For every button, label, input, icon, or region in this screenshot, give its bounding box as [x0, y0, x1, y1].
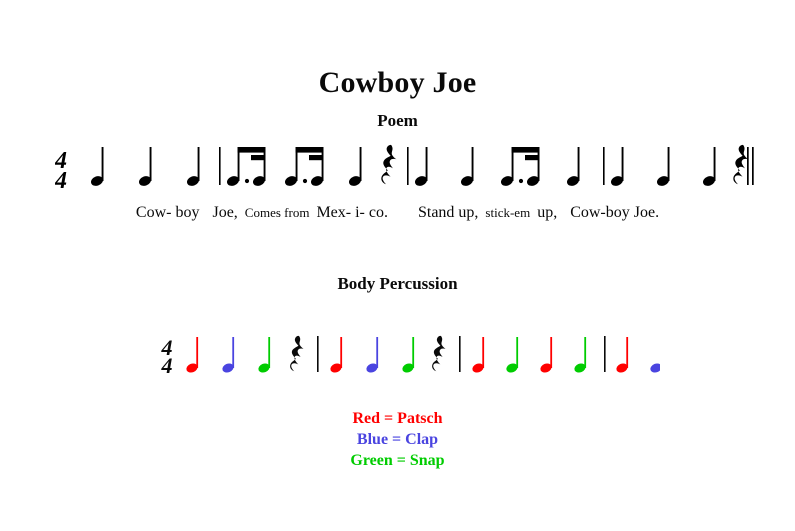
poem-measure-3 [414, 147, 581, 188]
lyric-segment: Comes from [245, 206, 310, 219]
note-patsch [329, 337, 343, 374]
time-signature-4-4: 4 4 [55, 148, 67, 194]
poem-lyrics-line: Cow- boyJoe,Comes fromMex- i- co.Stand u… [0, 205, 795, 221]
lyric-segment: Mex- i- co. [316, 205, 388, 221]
barline [317, 336, 319, 372]
legend-item-green: Green = Snap [0, 450, 795, 471]
lyric-segment: stick-em [485, 206, 530, 219]
poem-measure-4 [610, 145, 749, 188]
legend-item-red: Red = Patsch [0, 408, 795, 429]
note-patsch [471, 337, 485, 374]
body-percussion-notation-staff: 4 4 [160, 328, 660, 380]
sheet-music-page: Cowboy Joe Poem 4 4 [0, 0, 795, 531]
page-title: Cowboy Joe [0, 68, 795, 98]
note-patsch [185, 337, 199, 374]
page-subtitle: Poem [0, 112, 795, 129]
color-legend: Red = Patsch Blue = Clap Green = Snap [0, 408, 795, 471]
note-snap [257, 337, 271, 374]
svg-text:4: 4 [55, 168, 67, 194]
quarter-rest [290, 336, 304, 371]
final-barline [747, 147, 754, 185]
svg-text:4: 4 [161, 353, 173, 378]
quarter-rest [381, 145, 396, 184]
percussion-measure-2 [329, 336, 446, 374]
legend-item-blue: Blue = Clap [0, 429, 795, 450]
percussion-measure-3 [471, 337, 587, 374]
lyric-segment: up, [537, 205, 557, 221]
quarter-rest [733, 145, 748, 184]
poem-measure-1 [90, 147, 201, 188]
note-snap [573, 337, 587, 374]
lyric-segment: Cow- boy [136, 205, 200, 221]
barline [219, 147, 221, 185]
note-clap [365, 337, 379, 374]
poem-notation-staff: 4 4 [55, 140, 755, 195]
note-patsch [539, 337, 553, 374]
dotted-eighth-sixteenth-group [226, 147, 267, 188]
dotted-eighth-sixteenth-group [284, 147, 325, 188]
lyric-segment: Joe, [212, 205, 237, 221]
section-heading-body-percussion: Body Percussion [0, 275, 795, 292]
percussion-measure-1 [185, 336, 304, 374]
poem-measure-2 [226, 145, 397, 188]
note-clap [221, 337, 235, 374]
note-patsch [615, 337, 629, 374]
lyric-segment: Stand up, [418, 205, 478, 221]
barline [603, 147, 605, 185]
note-clap [649, 337, 660, 374]
time-signature-4-4: 4 4 [161, 335, 173, 378]
dotted-eighth-sixteenth-group [500, 147, 541, 188]
barline [407, 147, 409, 185]
note-snap [401, 337, 415, 374]
note-snap [505, 337, 519, 374]
percussion-measure-4 [615, 336, 660, 374]
barline [604, 336, 606, 372]
barline [459, 336, 461, 372]
lyric-segment: Cow-boy Joe. [570, 205, 659, 221]
quarter-rest [432, 336, 446, 371]
